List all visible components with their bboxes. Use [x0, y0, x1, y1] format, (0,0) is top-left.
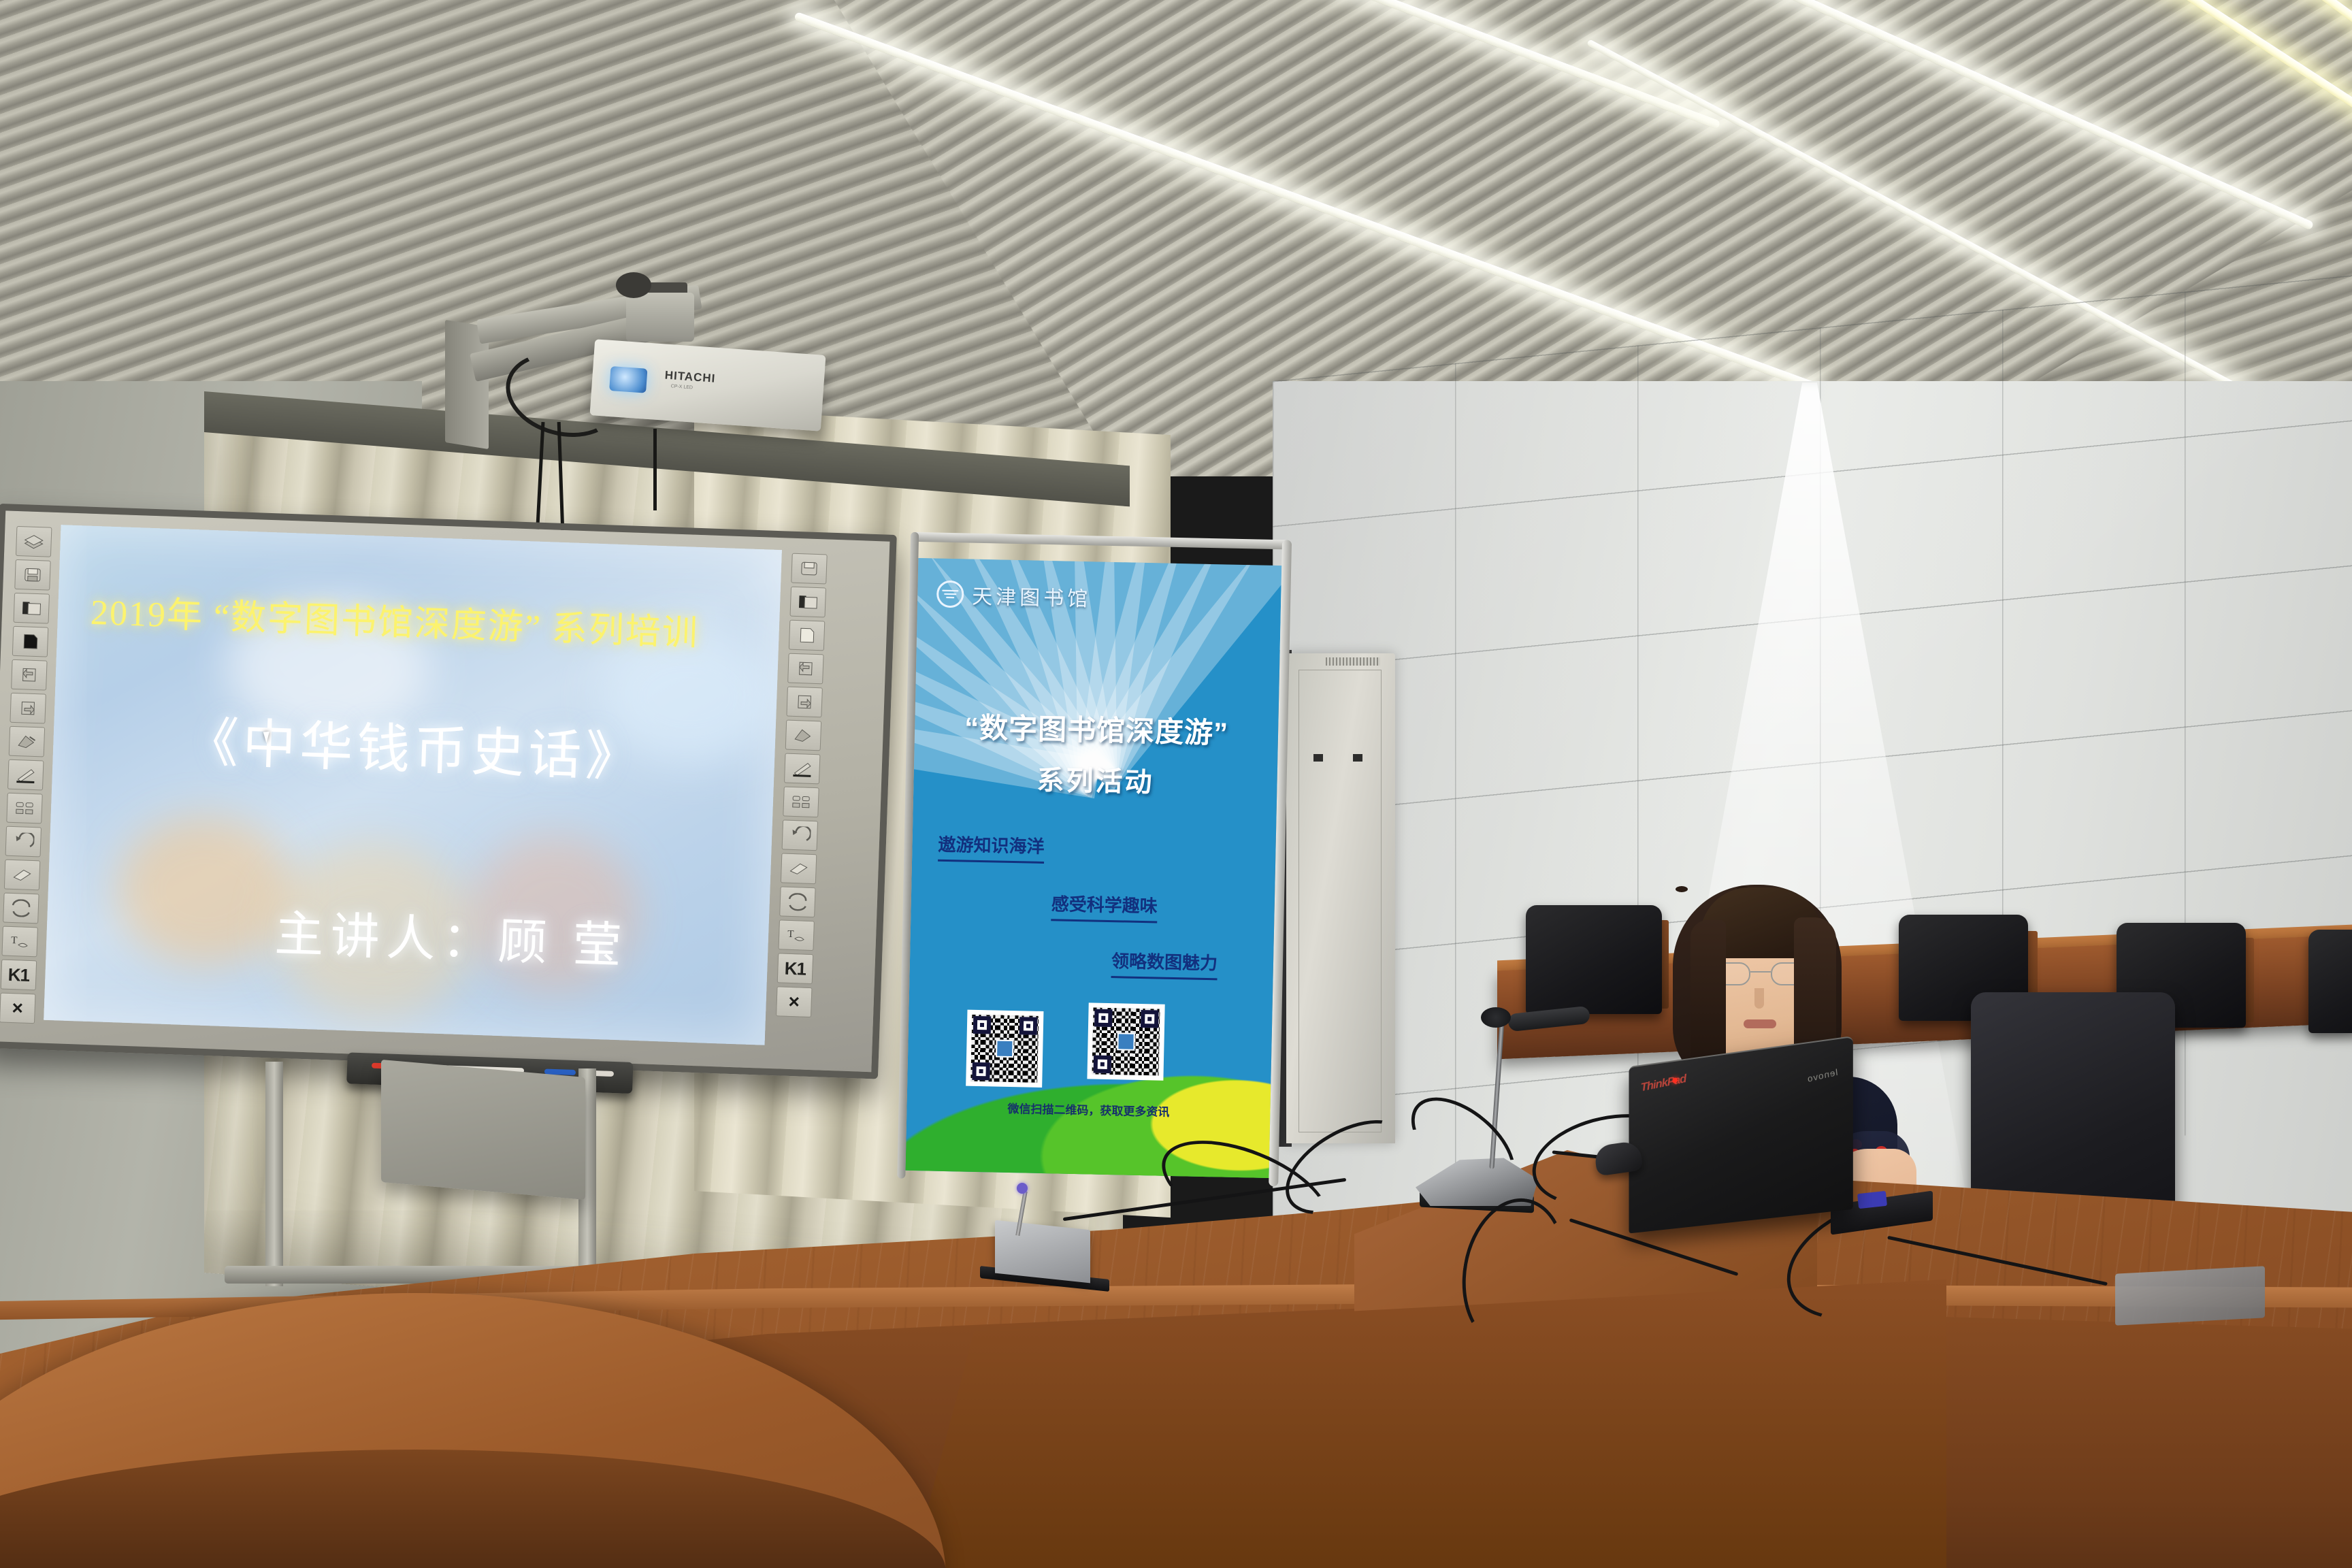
books-icon[interactable] — [16, 526, 52, 557]
roll-up-banner: 天津图书馆 “数字图书馆深度游” 系列活动 遨游知识海洋 感受科学趣味 领略数图… — [905, 538, 1286, 1185]
mouth — [1744, 1019, 1776, 1028]
close-button[interactable]: × — [0, 992, 35, 1024]
text-tool-icon[interactable]: T — [1, 926, 38, 958]
new-page-icon[interactable] — [12, 626, 49, 657]
previous-page-icon[interactable] — [11, 659, 48, 691]
svg-text:T: T — [787, 929, 794, 940]
projection-screen[interactable]: 2019年 “数字图书馆深度游” 系列培训 《中华钱币史话》 主讲人：顾 莹 — [44, 525, 782, 1045]
close-button[interactable]: × — [776, 986, 813, 1017]
pen-tool-icon[interactable] — [784, 753, 821, 785]
shapes-icon[interactable] — [6, 793, 43, 824]
nose — [1754, 988, 1764, 1009]
new-page-icon[interactable] — [789, 620, 826, 651]
k1-button[interactable]: K1 — [777, 953, 814, 984]
whiteboard-frame: 2019年 “数字图书馆深度游” 系列培训 《中华钱币史话》 主讲人：顾 莹 — [0, 504, 897, 1079]
banner-title: “数字图书馆深度游” — [915, 704, 1279, 753]
laptop-lid[interactable]: ThinkPad lenovo — [1629, 1036, 1853, 1234]
glasses-bridge — [1750, 971, 1771, 973]
banner-artwork: 天津图书馆 “数字图书馆深度游” 系列活动 遨游知识海洋 感受科学趣味 领略数图… — [906, 558, 1282, 1178]
save-icon[interactable] — [791, 553, 828, 585]
interactive-whiteboard[interactable]: 2019年 “数字图书馆深度游” 系列培训 《中华钱币史话》 主讲人：顾 莹 — [0, 476, 911, 1120]
pen-tool-icon[interactable] — [7, 759, 44, 791]
library-logo-mark-icon — [936, 581, 964, 608]
stand-leg-left — [265, 1062, 283, 1286]
projector-mount — [626, 293, 694, 342]
cabinet-door[interactable] — [1298, 670, 1382, 1132]
fill-tool-icon[interactable] — [9, 726, 46, 757]
projector-wire-3 — [653, 429, 657, 510]
qr-code-1-logo — [996, 1040, 1014, 1058]
undo-icon[interactable] — [782, 819, 819, 851]
projector-brand-label: HITACHI — [664, 369, 716, 386]
whiteboard-right-toolbar[interactable]: T K1 × — [772, 553, 831, 1018]
next-page-icon[interactable] — [10, 693, 46, 724]
save-icon[interactable] — [14, 559, 51, 591]
banner-tag-2: 感受科学趣味 — [1051, 890, 1158, 923]
projector-lens — [609, 366, 647, 393]
banner-subtitle: 系列活动 — [913, 755, 1277, 802]
eye-left — [1676, 886, 1688, 892]
lecture-room-photo: HITACHI CP-X LED 2019年 “数字图书馆深度游” 系列培训 《… — [0, 0, 2352, 1568]
text-tool-icon[interactable]: T — [778, 919, 815, 951]
projector-body: HITACHI CP-X LED — [590, 339, 826, 431]
usb-dongle[interactable] — [1857, 1191, 1887, 1209]
thinkpad-logo: ThinkPad — [1640, 1072, 1686, 1094]
previous-page-icon[interactable] — [787, 653, 824, 685]
lenovo-logo: lenovo — [1806, 1067, 1838, 1085]
duplicate-page-icon[interactable] — [14, 593, 50, 624]
qr-code-2-logo — [1117, 1032, 1135, 1051]
k1-button[interactable]: K1 — [1, 960, 37, 991]
next-page-icon[interactable] — [786, 687, 823, 718]
qr-code-1[interactable] — [966, 1010, 1043, 1088]
conference-chair-4[interactable] — [2308, 930, 2352, 1033]
projector-pivot-joint — [616, 272, 651, 298]
banner-tag-3: 领略数图魅力 — [1111, 947, 1218, 980]
undo-icon[interactable] — [5, 826, 42, 857]
qr-code-2-pattern — [1092, 1008, 1160, 1076]
projector-model-label: CP-X LED — [671, 384, 693, 390]
eraser-icon[interactable] — [781, 853, 817, 884]
cabinet-lock-left[interactable] — [1313, 754, 1323, 762]
conference-chair-1[interactable] — [1526, 905, 1662, 1014]
svg-text:T: T — [11, 935, 18, 946]
microphone-capsule — [1481, 1007, 1511, 1028]
library-logo: 天津图书馆 — [936, 579, 1092, 612]
redo-icon[interactable] — [779, 886, 816, 917]
duplicate-page-icon[interactable] — [790, 587, 827, 618]
desk-nameplate[interactable] — [995, 1220, 1090, 1284]
nameplate-mic-led — [1017, 1183, 1028, 1194]
eraser-icon[interactable] — [4, 860, 41, 891]
slide-presenter: 主讲人：顾 莹 — [46, 885, 769, 982]
av-cabinet[interactable] — [1286, 653, 1395, 1143]
redo-icon[interactable] — [3, 893, 39, 924]
desk-writing-pad — [2115, 1266, 2265, 1326]
banner-tag-1: 遨游知识海洋 — [938, 831, 1045, 864]
qr-code-1-pattern — [970, 1015, 1039, 1083]
slide-heading: 2019年 “数字图书馆深度游” 系列培训 — [90, 583, 772, 658]
side-podium — [381, 1060, 585, 1200]
qr-code-2[interactable] — [1087, 1002, 1164, 1080]
cabinet-lock-right[interactable] — [1353, 754, 1362, 762]
library-logo-text: 天津图书馆 — [972, 580, 1092, 612]
shapes-icon[interactable] — [783, 786, 819, 817]
cabinet-vent — [1326, 657, 1380, 666]
fill-tool-icon[interactable] — [785, 720, 822, 751]
